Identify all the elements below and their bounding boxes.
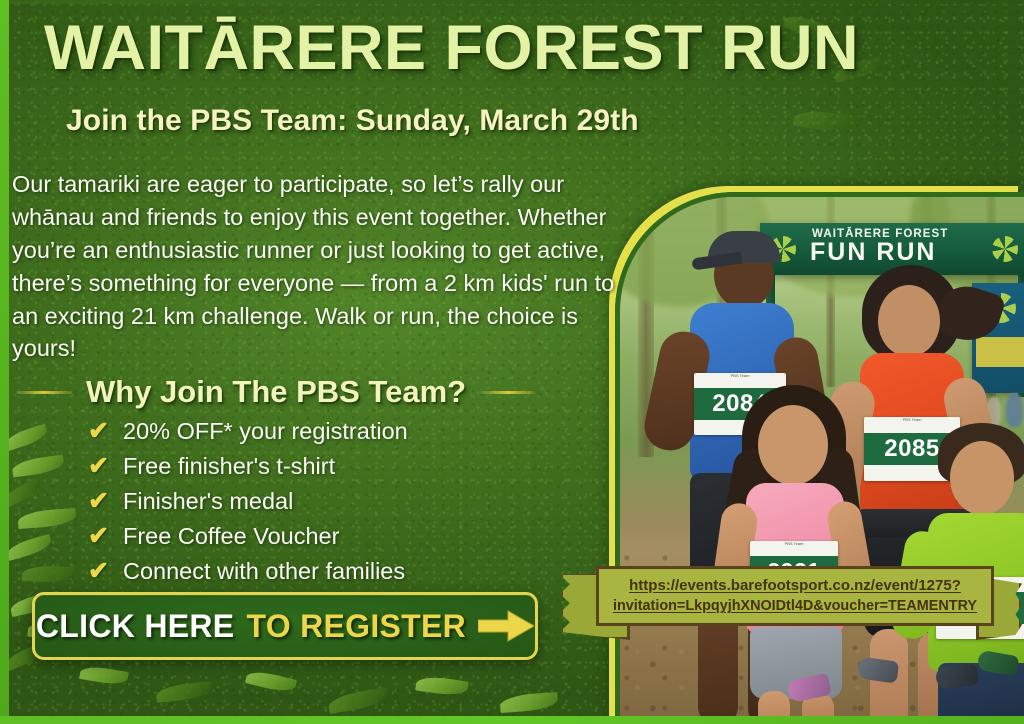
benefit-label: 20% OFF* your registration [123,418,408,445]
cta-label-primary: CLICK HERE [36,608,235,645]
subtitle: Join the PBS Team: Sunday, March 29th [66,104,639,138]
check-icon: ✔ [88,524,110,549]
benefit-label: Finisher's medal [123,488,293,515]
arrow-right-icon [478,609,534,643]
poster-border-bottom [0,716,1024,724]
registration-url-link[interactable]: https://events.barefootsport.co.nz/event… [596,566,994,626]
runner-head [878,285,940,357]
runner-head [758,405,828,485]
page-title: WAITĀRERE FOREST RUN [44,16,944,80]
check-icon: ✔ [88,489,110,514]
fern-icon-right [992,236,1018,262]
check-icon: ✔ [88,454,110,479]
list-item: ✔ Finisher's medal [88,488,408,515]
benefit-label: Free finisher's t-shirt [123,453,335,480]
benefit-label: Connect with other families [123,558,405,585]
poster-border-top [0,0,1024,4]
why-join-title: Why Join The PBS Team? [86,374,466,410]
promotional-poster: WAITĀRERE FOREST FUN RUN [0,0,1024,724]
heading-rule-right [480,391,536,394]
url-line-1: https://events.barefootsport.co.nz/event… [629,575,961,596]
list-item: ✔ Free Coffee Voucher [88,523,408,550]
poster-border-left [0,0,9,724]
registration-url-ribbon[interactable]: https://events.barefootsport.co.nz/event… [560,566,1022,638]
runner-head [950,441,1014,515]
check-icon: ✔ [88,419,110,444]
benefits-list: ✔ 20% OFF* your registration ✔ Free fini… [88,418,408,593]
register-button[interactable]: CLICK HERE TO REGISTER [32,592,538,660]
why-join-heading-row: Why Join The PBS Team? [16,374,576,410]
family-runners-photo: WAITĀRERE FOREST FUN RUN [615,192,1024,724]
list-item: ✔ Connect with other families [88,558,408,585]
benefit-label: Free Coffee Voucher [123,523,339,550]
heading-rule-left [16,391,72,394]
url-line-2: invitation=LkpqyjhXNOIDtl4D&voucher=TEAM… [613,596,977,616]
list-item: ✔ Free finisher's t-shirt [88,453,408,480]
body-paragraph: Our tamariki are eager to participate, s… [12,168,638,365]
list-item: ✔ 20% OFF* your registration [88,418,408,445]
running-shoe [935,663,979,689]
bib-caption: PBS Team [750,541,838,547]
cta-label-secondary: TO REGISTER [246,608,466,645]
runner-child-girl: PBS Team 2921 [716,379,872,724]
check-icon: ✔ [88,559,110,584]
